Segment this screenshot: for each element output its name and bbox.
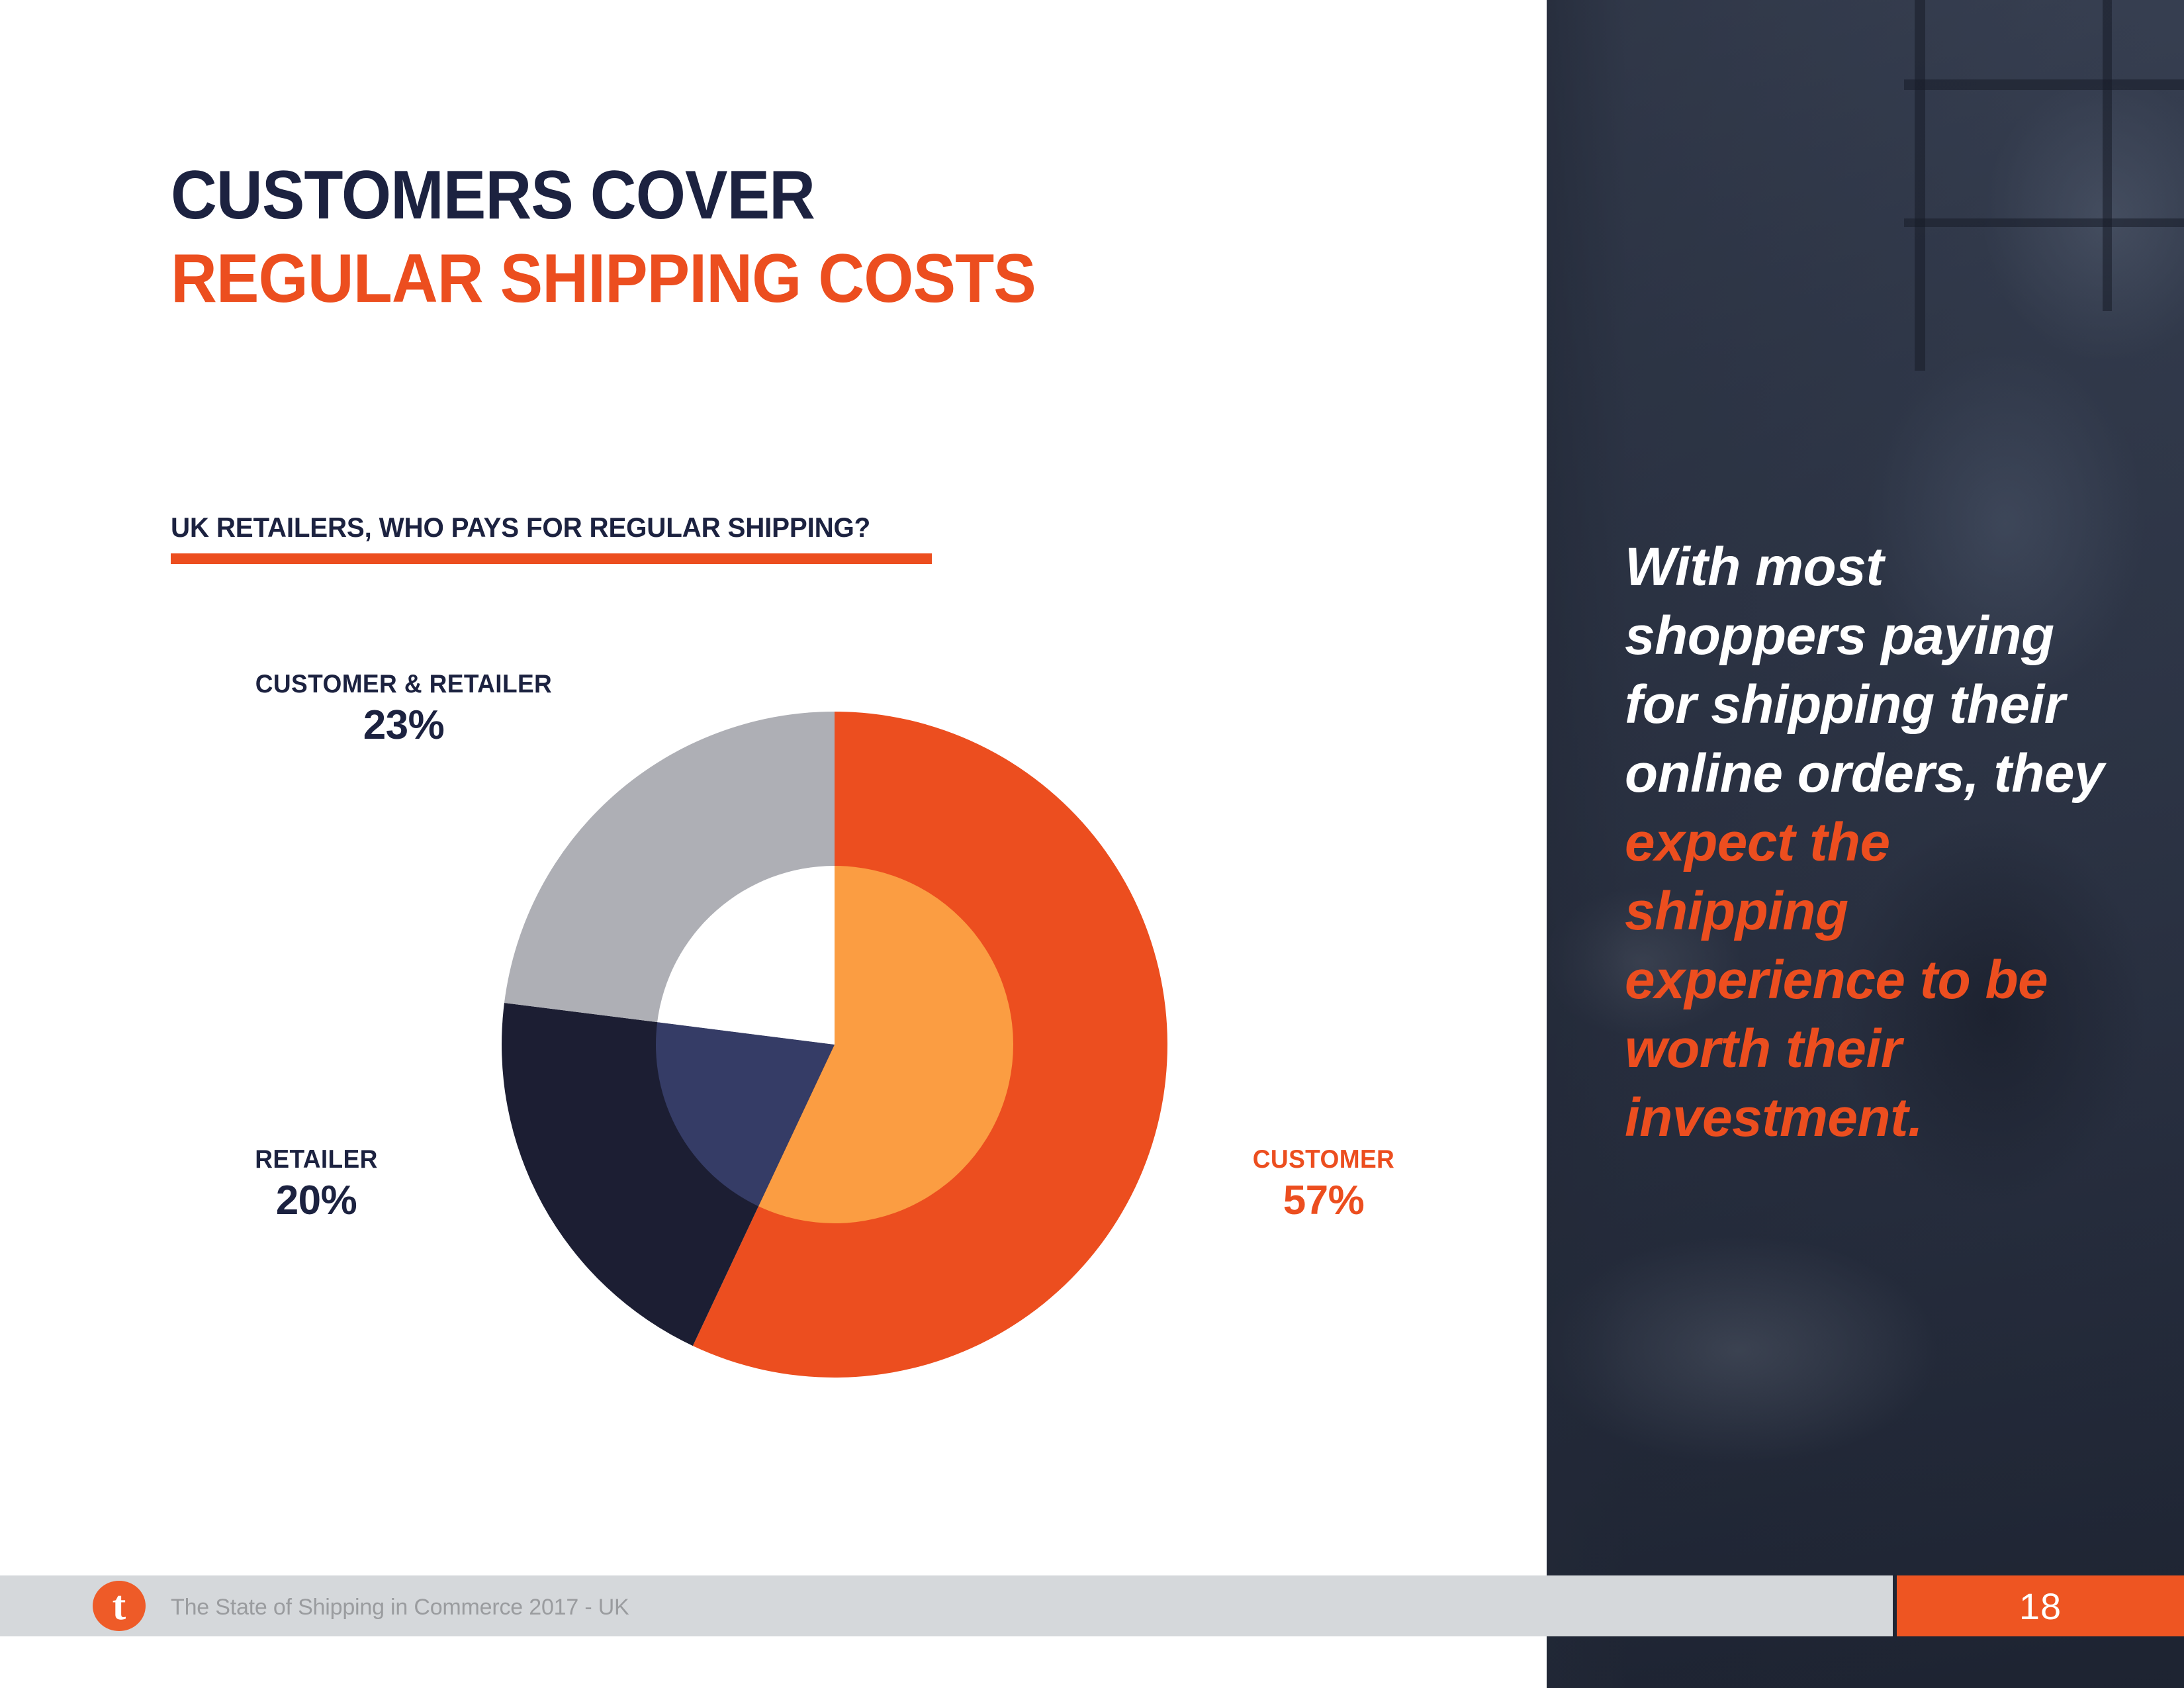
title-line-primary: CUSTOMERS COVER xyxy=(171,154,1340,237)
donut-chart xyxy=(463,662,1257,1456)
donut-inner-ring xyxy=(656,866,1013,1223)
chart-label-retailer: RETAILER 20% xyxy=(177,1144,455,1226)
accent-underline-rule xyxy=(171,553,932,564)
chart-label-category: CUSTOMER & RETAILER xyxy=(203,669,605,700)
chart-label-value: 57% xyxy=(1185,1176,1463,1226)
brand-logo-icon: t xyxy=(93,1581,146,1631)
page-number-badge: 18 xyxy=(1897,1575,2184,1636)
chart-label-category: CUSTOMER xyxy=(1192,1144,1456,1176)
title-line-secondary: REGULAR SHIPPING COSTS xyxy=(171,237,1340,320)
footer-source-text: The State of Shipping in Commerce 2017 -… xyxy=(171,1593,629,1621)
right-photo-panel: With most shoppers paying for shipping t… xyxy=(1547,0,2184,1688)
chart-label-value: 23% xyxy=(192,700,615,751)
brand-logo-letter: t xyxy=(93,1585,146,1627)
pull-quote: With most shoppers paying for shipping t… xyxy=(1625,533,2128,1152)
chart-label-category: RETAILER xyxy=(185,1144,449,1176)
chart-label-customer-and-retailer: CUSTOMER & RETAILER 23% xyxy=(192,669,615,751)
chart-label-value: 20% xyxy=(177,1176,455,1226)
pull-quote-highlight: expect the shipping experience to be wor… xyxy=(1625,812,2048,1148)
page-number: 18 xyxy=(1897,1587,2184,1626)
chart-label-customer: CUSTOMER 57% xyxy=(1185,1144,1463,1226)
slide-canvas: CUSTOMERS COVER REGULAR SHIPPING COSTS U… xyxy=(0,0,2184,1688)
chart-question-text: UK RETAILERS, WHO PAYS FOR REGULAR SHIPP… xyxy=(171,511,1060,544)
chart-question-heading: UK RETAILERS, WHO PAYS FOR REGULAR SHIPP… xyxy=(171,511,1097,564)
left-content-panel: CUSTOMERS COVER REGULAR SHIPPING COSTS U… xyxy=(0,0,1547,1688)
donut-chart-svg xyxy=(463,662,1257,1456)
pull-quote-plain: With most shoppers paying for shipping t… xyxy=(1625,537,2104,804)
page-title: CUSTOMERS COVER REGULAR SHIPPING COSTS xyxy=(171,154,1428,320)
